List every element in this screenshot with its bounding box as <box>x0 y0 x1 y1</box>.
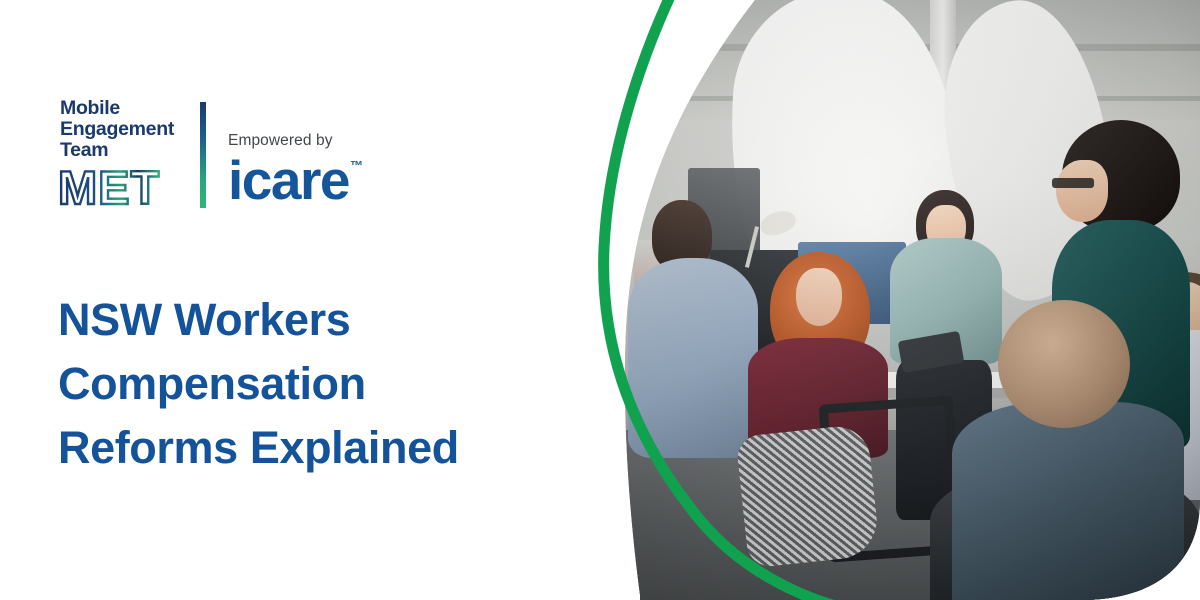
met-logo[interactable]: Mobile Engagement Team MET <box>58 98 190 212</box>
headline-line-3: Reforms Explained <box>58 416 578 480</box>
headline-line-2: Compensation <box>58 352 578 416</box>
met-line-3: Team <box>60 140 174 161</box>
logo-lockup[interactable]: Mobile Engagement Team MET <box>58 98 363 212</box>
gradient-divider-bar <box>200 102 206 208</box>
left-content-panel: Mobile Engagement Team MET <box>0 0 620 600</box>
met-line-1: Mobile <box>60 98 174 119</box>
icare-logo[interactable]: Empowered by icare ™ <box>228 98 363 208</box>
met-line-2: Engagement <box>60 119 174 140</box>
svg-text:MET: MET <box>58 164 160 212</box>
hero-photo <box>600 0 1200 600</box>
hero-photo-container <box>600 0 1200 600</box>
event-banner: Mobile Engagement Team MET <box>0 0 1200 600</box>
hero-photo-mask <box>600 0 1200 600</box>
headline-line-1: NSW Workers <box>58 288 578 352</box>
trademark-symbol: ™ <box>350 158 363 173</box>
met-logo-wordmark: Mobile Engagement Team <box>60 98 174 161</box>
page-title: NSW Workers Compensation Reforms Explain… <box>58 288 578 480</box>
icare-wordmark: icare <box>228 152 349 208</box>
met-acronym-icon: MET <box>58 164 186 212</box>
empowered-by-label: Empowered by <box>228 132 333 150</box>
